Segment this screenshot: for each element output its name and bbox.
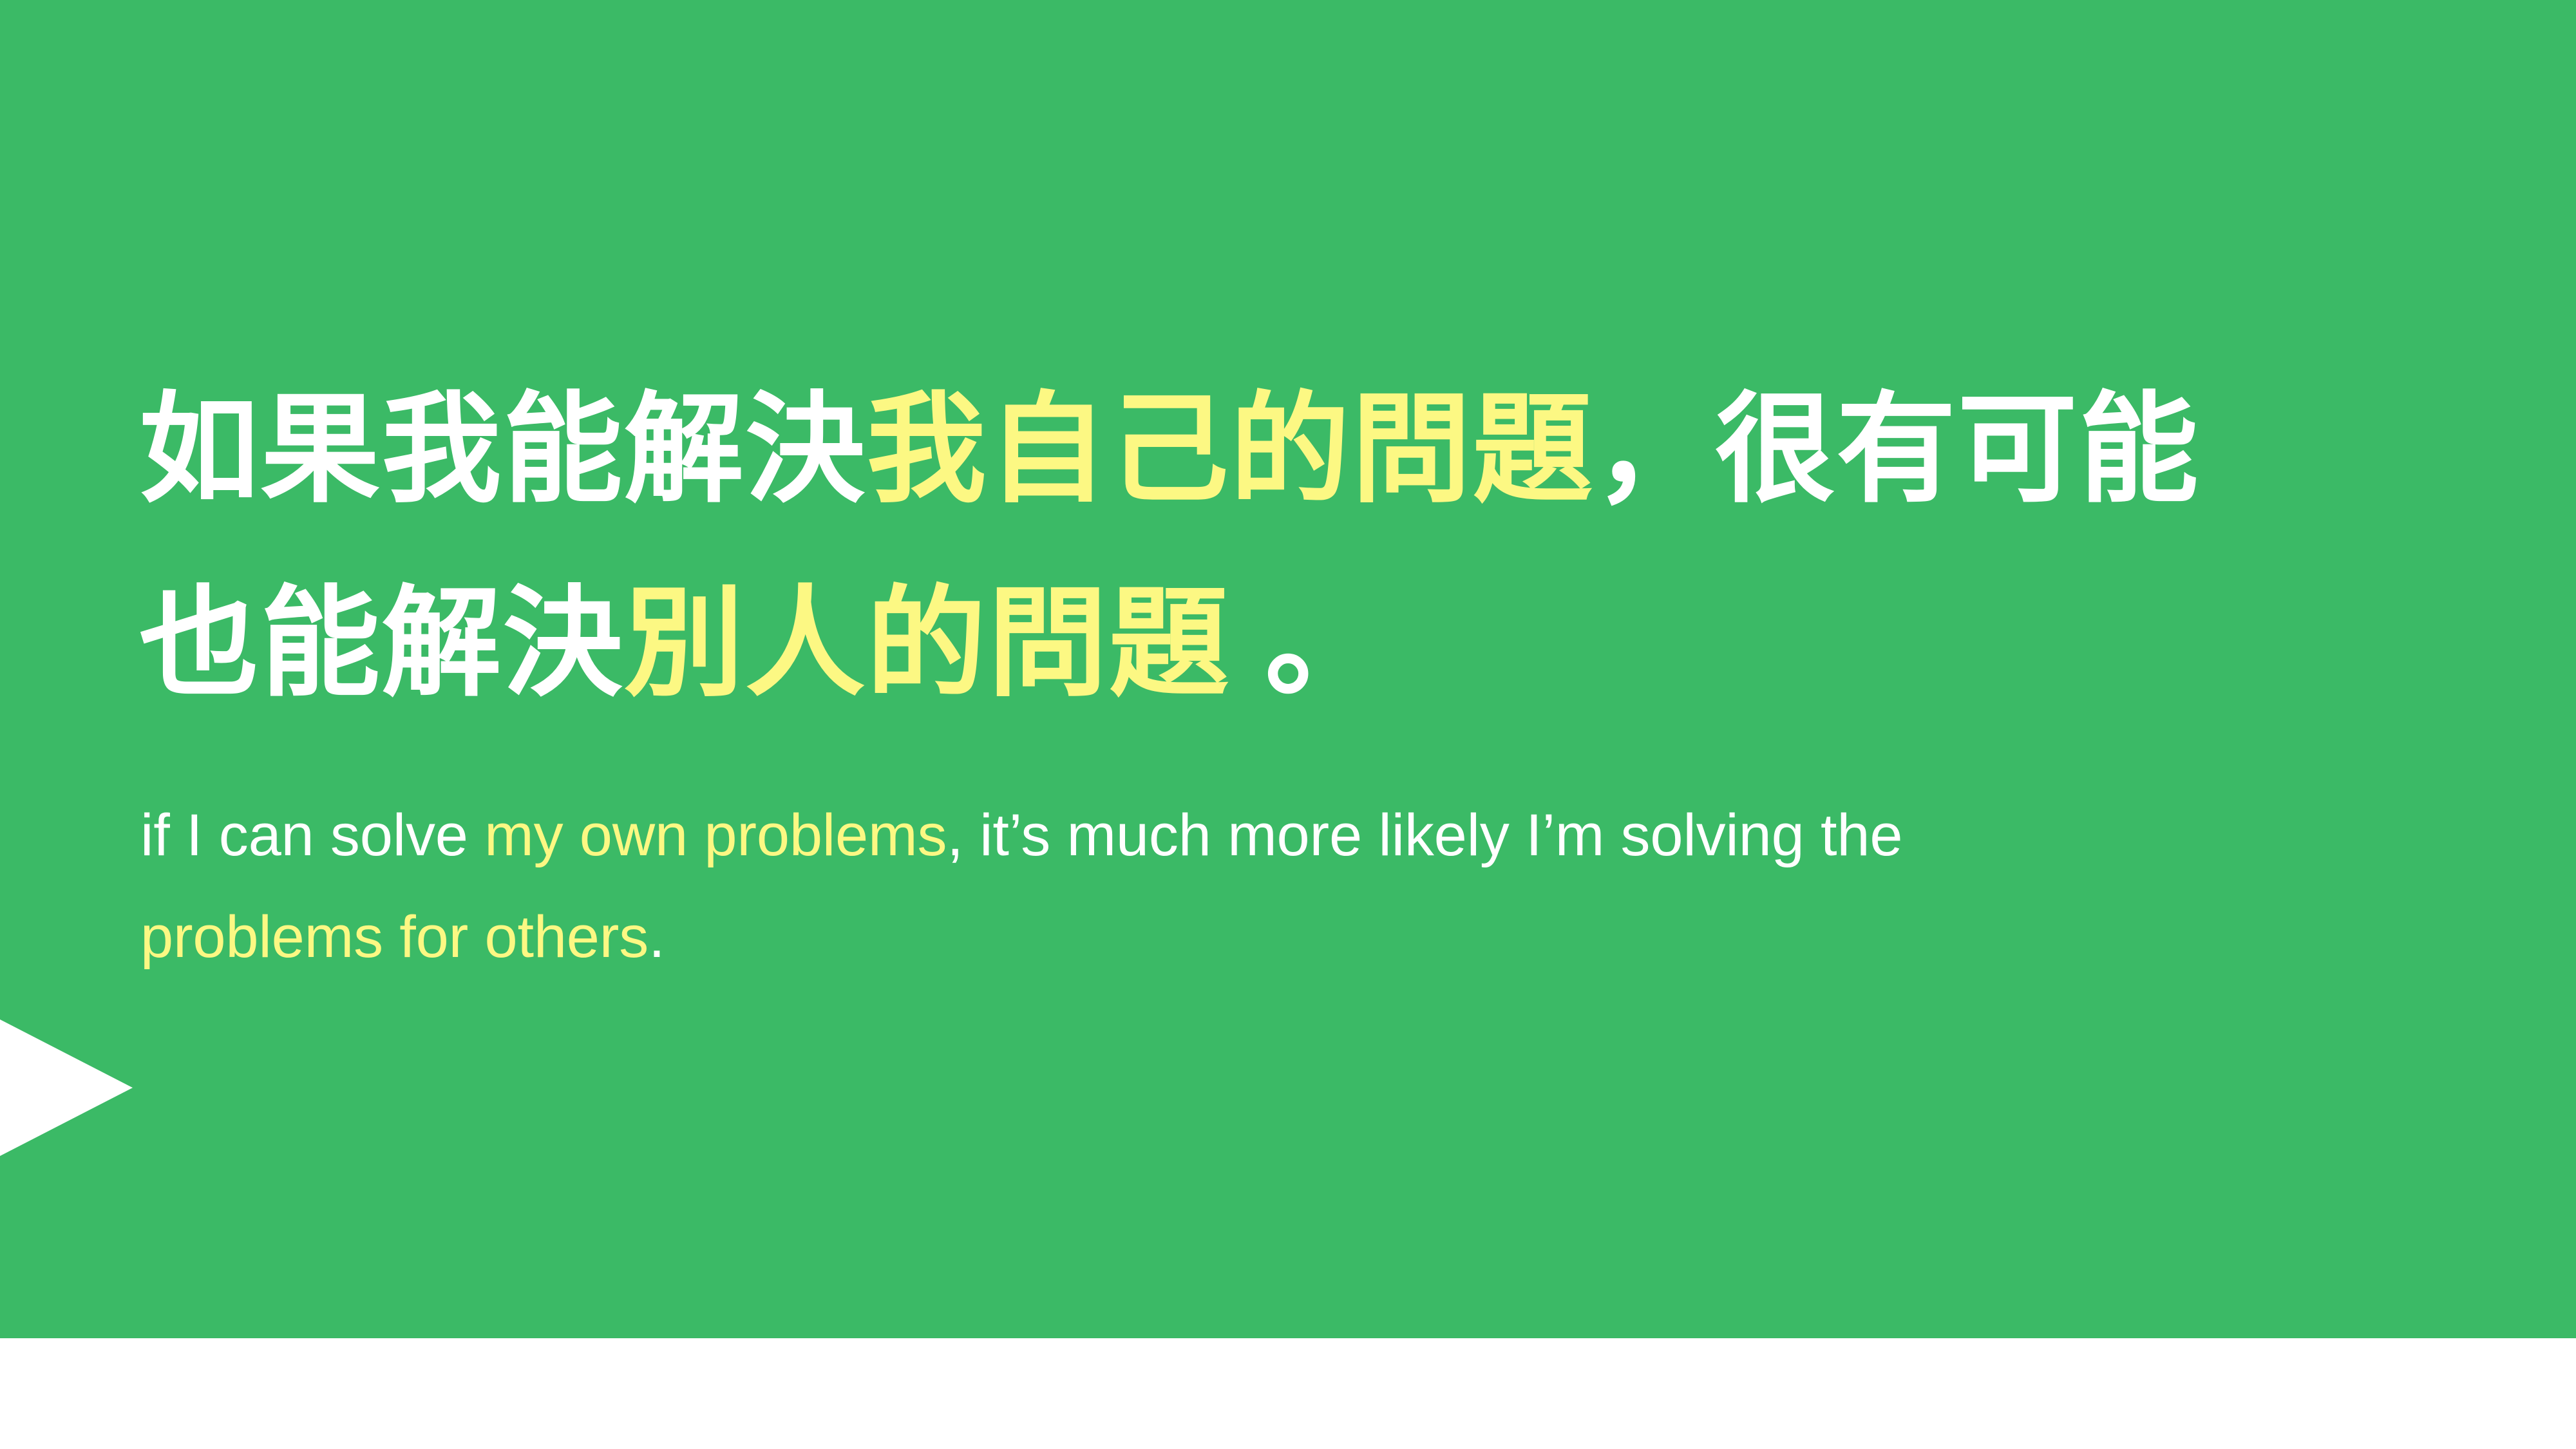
quote-cjk-line-1: 如果我能解決我自己的問題，很有可能 <box>139 353 2432 547</box>
arrow-marker-icon <box>0 1019 133 1156</box>
quote-en-line1-seg3: , it’s much more likely I’m solving the <box>947 802 1902 868</box>
quote-cjk-line-2: 也能解決別人的問題 。 <box>139 547 2432 741</box>
quote-en-line-1: if I can solve my own problems, it’s muc… <box>140 784 2382 886</box>
quote-cjk-line1-seg1: 如果我能解決 <box>139 383 866 516</box>
quote-cjk-line2-seg2-highlight: 別人的問題 <box>624 577 1230 710</box>
quote-en-line-2: problems for others. <box>140 886 2382 988</box>
quote-cjk-line2-seg1: 也能解決 <box>139 577 624 710</box>
quote-block-cjk: 如果我能解決我自己的問題，很有可能 也能解決別人的問題 。 <box>139 353 2432 741</box>
quote-en-line1-seg2-highlight: my own problems <box>484 802 947 868</box>
quote-cjk-line1-seg2-highlight: 我自己的問題 <box>866 383 1593 516</box>
quote-en-line2-seg2: . <box>649 904 665 970</box>
quote-block-english: if I can solve my own problems, it’s muc… <box>140 784 2382 988</box>
slide-footer: TAIWAN <box>0 1338 2576 1449</box>
quote-en-line1-seg1: if I can solve <box>140 802 484 868</box>
presentation-slide: 如果我能解決我自己的問題，很有可能 也能解決別人的問題 。 if I can s… <box>0 0 2576 1449</box>
slide-stage: 如果我能解決我自己的問題，很有可能 也能解決別人的問題 。 if I can s… <box>0 0 2576 1338</box>
quote-cjk-line2-seg3: 。 <box>1230 577 1386 710</box>
quote-en-line2-seg1-highlight: problems for others <box>140 904 649 970</box>
quote-cjk-line1-seg3: ，很有可能 <box>1594 383 2200 516</box>
